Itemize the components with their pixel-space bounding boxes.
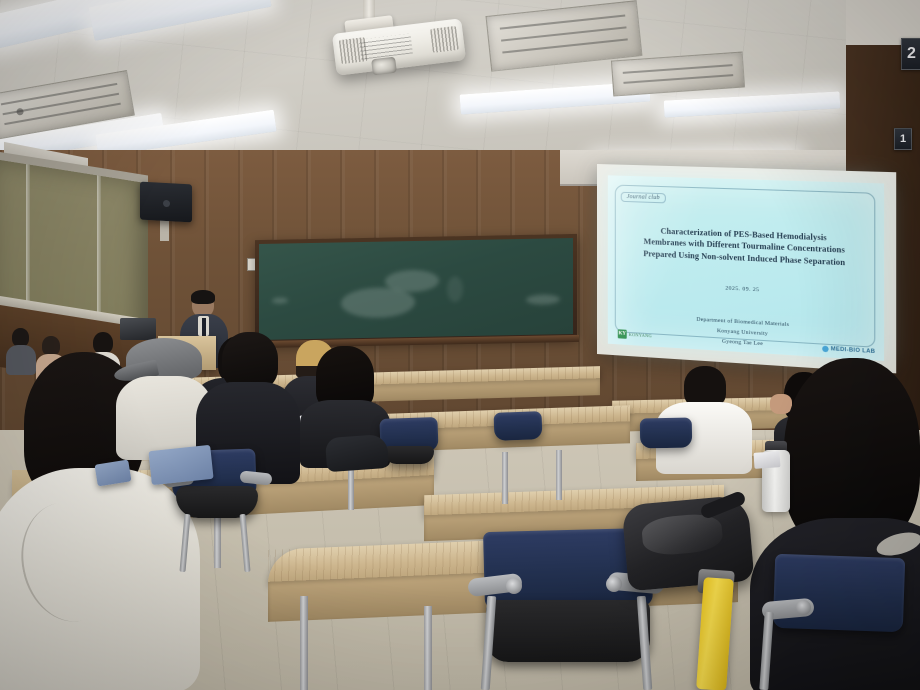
lecture-hall-photo: 2 1 Journal club Characterization of PES…	[0, 0, 920, 690]
desk-leg	[300, 596, 308, 690]
smartphone[interactable]	[753, 451, 780, 469]
lab-logo-icon	[822, 346, 828, 353]
chair-back[interactable]	[773, 554, 906, 632]
slide-surface: Journal club Characterization of PES-Bas…	[608, 175, 884, 361]
chair-back[interactable]	[640, 418, 693, 449]
slide-journal-club-tag: Journal club	[621, 192, 666, 204]
wall-sign-2: 2	[901, 38, 920, 70]
university-logo-mark: KY	[618, 329, 627, 339]
projection-screen: Journal club Characterization of PES-Bas…	[597, 164, 896, 373]
chair-seat[interactable]	[486, 600, 650, 662]
desk-leg	[502, 452, 508, 504]
podium-monitor	[120, 318, 156, 340]
desk-leg	[556, 450, 562, 500]
presenter-hair	[191, 290, 215, 304]
chair-arm-bolt	[506, 578, 522, 594]
university-logo-text: KONYANG	[629, 332, 652, 338]
wall-sign-1: 1	[894, 128, 912, 150]
speaker-icon	[140, 182, 192, 223]
tablet-device[interactable]	[148, 445, 213, 485]
foreground-student-right	[760, 358, 920, 690]
backpack	[621, 495, 754, 592]
chair-seat[interactable]	[384, 446, 434, 464]
desk-leg	[424, 606, 432, 690]
projector-vent-label	[359, 34, 413, 60]
chalkboard	[255, 234, 577, 344]
projector-lens	[371, 57, 397, 76]
speaker-bracket	[160, 219, 169, 241]
dark-jacket	[325, 434, 389, 472]
chair-arm-bolt	[796, 600, 811, 615]
chalkboard-surface	[259, 238, 573, 340]
chair-back[interactable]	[494, 411, 543, 441]
student-head	[93, 332, 113, 354]
chair-arm-bolt	[606, 576, 622, 592]
